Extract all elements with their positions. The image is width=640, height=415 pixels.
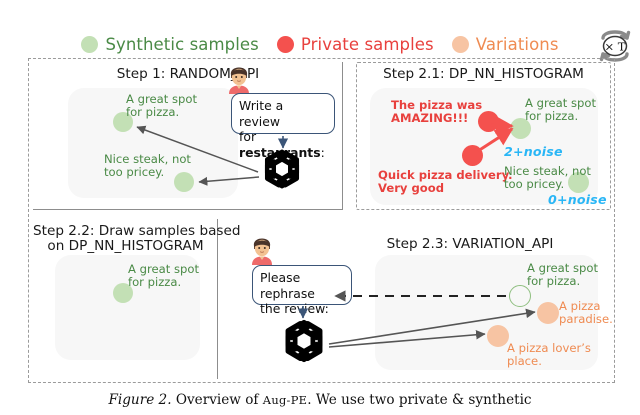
caption-figure-label: Figure 2. xyxy=(108,392,171,408)
arrow-model-to-sample-1 xyxy=(137,127,258,172)
arrows-overlay xyxy=(0,0,640,415)
arrow-model-to-sample-2 xyxy=(199,177,259,182)
arrow-private1-to-synthetic xyxy=(491,125,512,126)
caption-text-1: Overview of xyxy=(172,392,263,408)
figure-overview: Synthetic samples Private samples Variat… xyxy=(0,0,640,415)
arrow-private2-to-synthetic xyxy=(478,129,512,151)
figure-caption: Figure 2. Overview of Aug-PE. We use two… xyxy=(0,392,640,408)
caption-smallcaps: Aug-PE xyxy=(263,393,307,407)
caption-text-2: . We use two private & synthetic xyxy=(307,392,531,408)
